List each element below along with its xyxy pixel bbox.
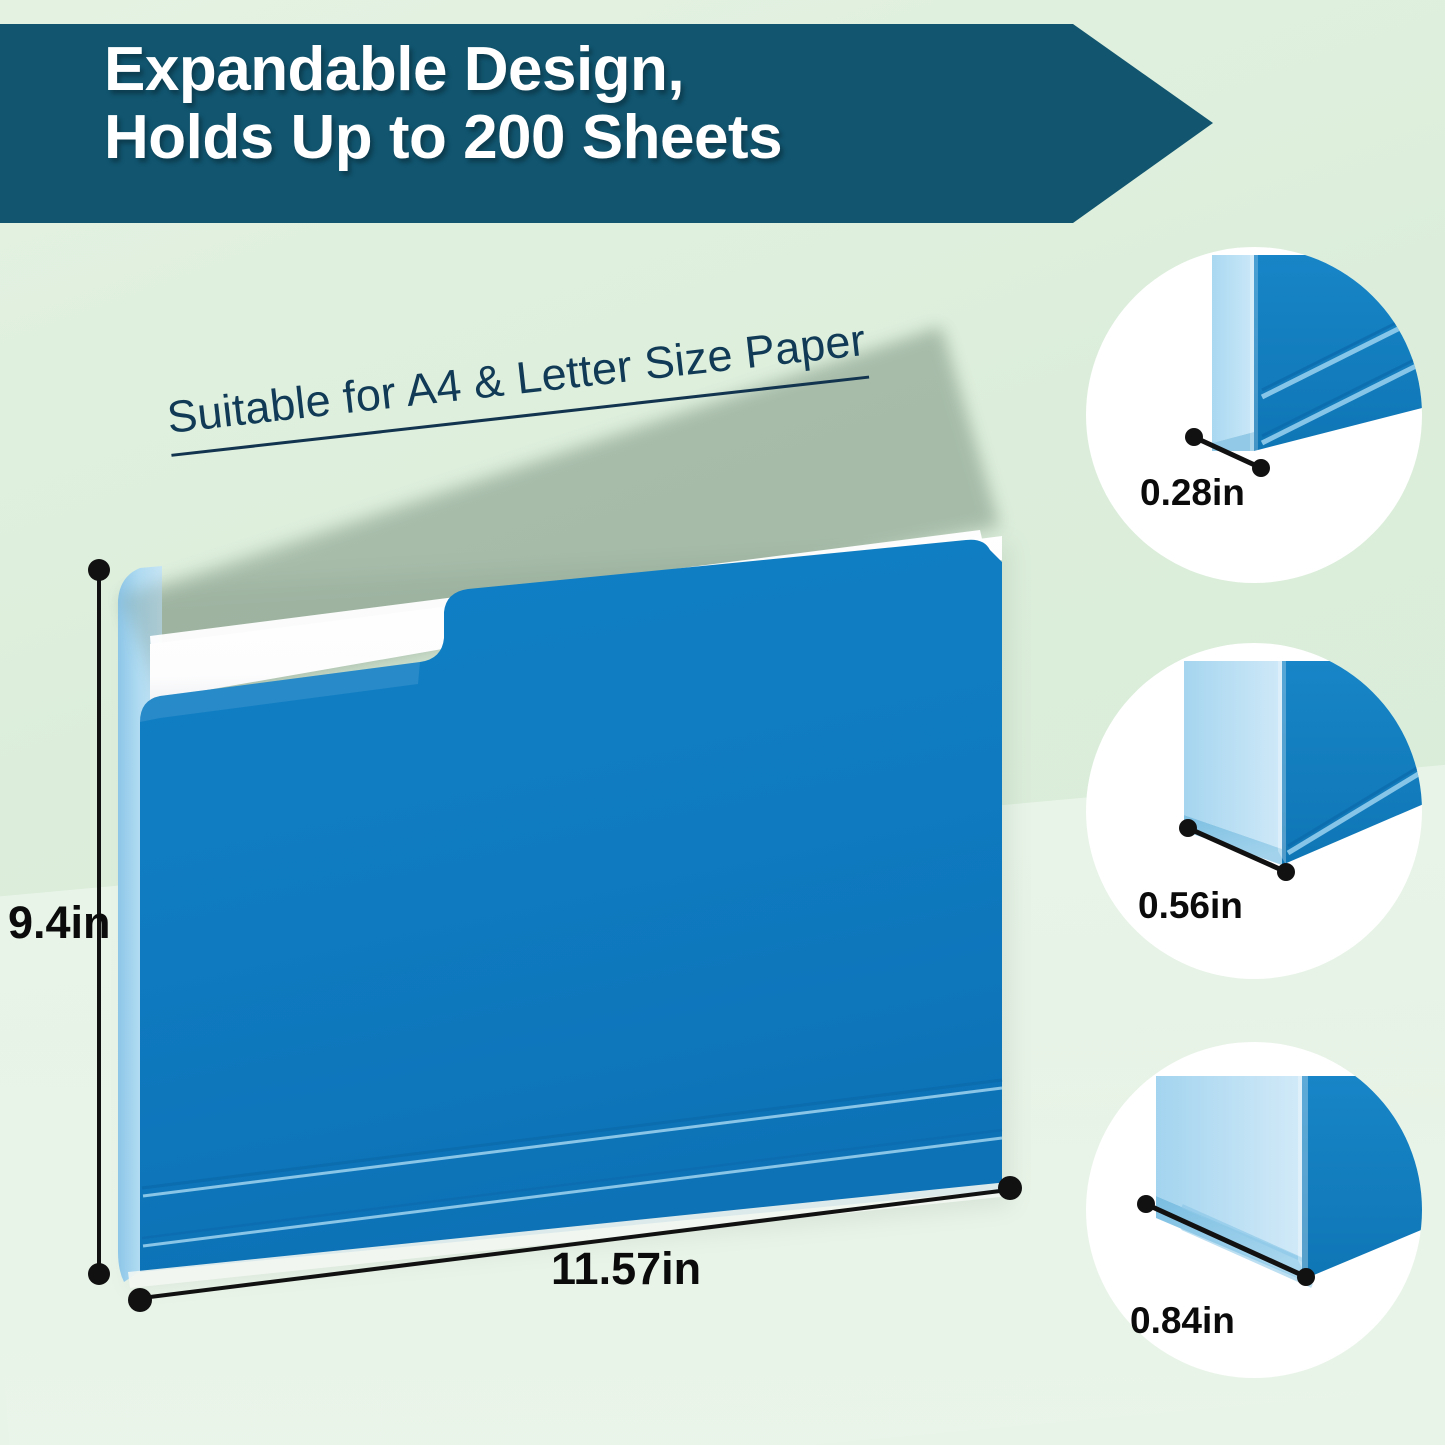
fully-expanded-gusset-detail: 0.84in — [1086, 1042, 1422, 1378]
infographic-canvas: Expandable Design, Holds Up to 200 Sheet… — [0, 0, 1445, 1445]
half-expanded-gusset-detail: 0.56in — [1086, 643, 1422, 979]
closed-gusset-detail: 0.28in — [1086, 247, 1422, 583]
width-dimension-label: 11.57in — [551, 1243, 701, 1295]
detail-1-measurement: 0.28in — [1140, 472, 1245, 514]
detail-2-vector — [1086, 643, 1422, 979]
detail-2-measurement: 0.56in — [1138, 885, 1243, 927]
detail-1-vector — [1086, 247, 1422, 583]
detail-3-measurement: 0.84in — [1130, 1300, 1235, 1342]
height-dimension-label: 9.4in — [8, 897, 111, 949]
